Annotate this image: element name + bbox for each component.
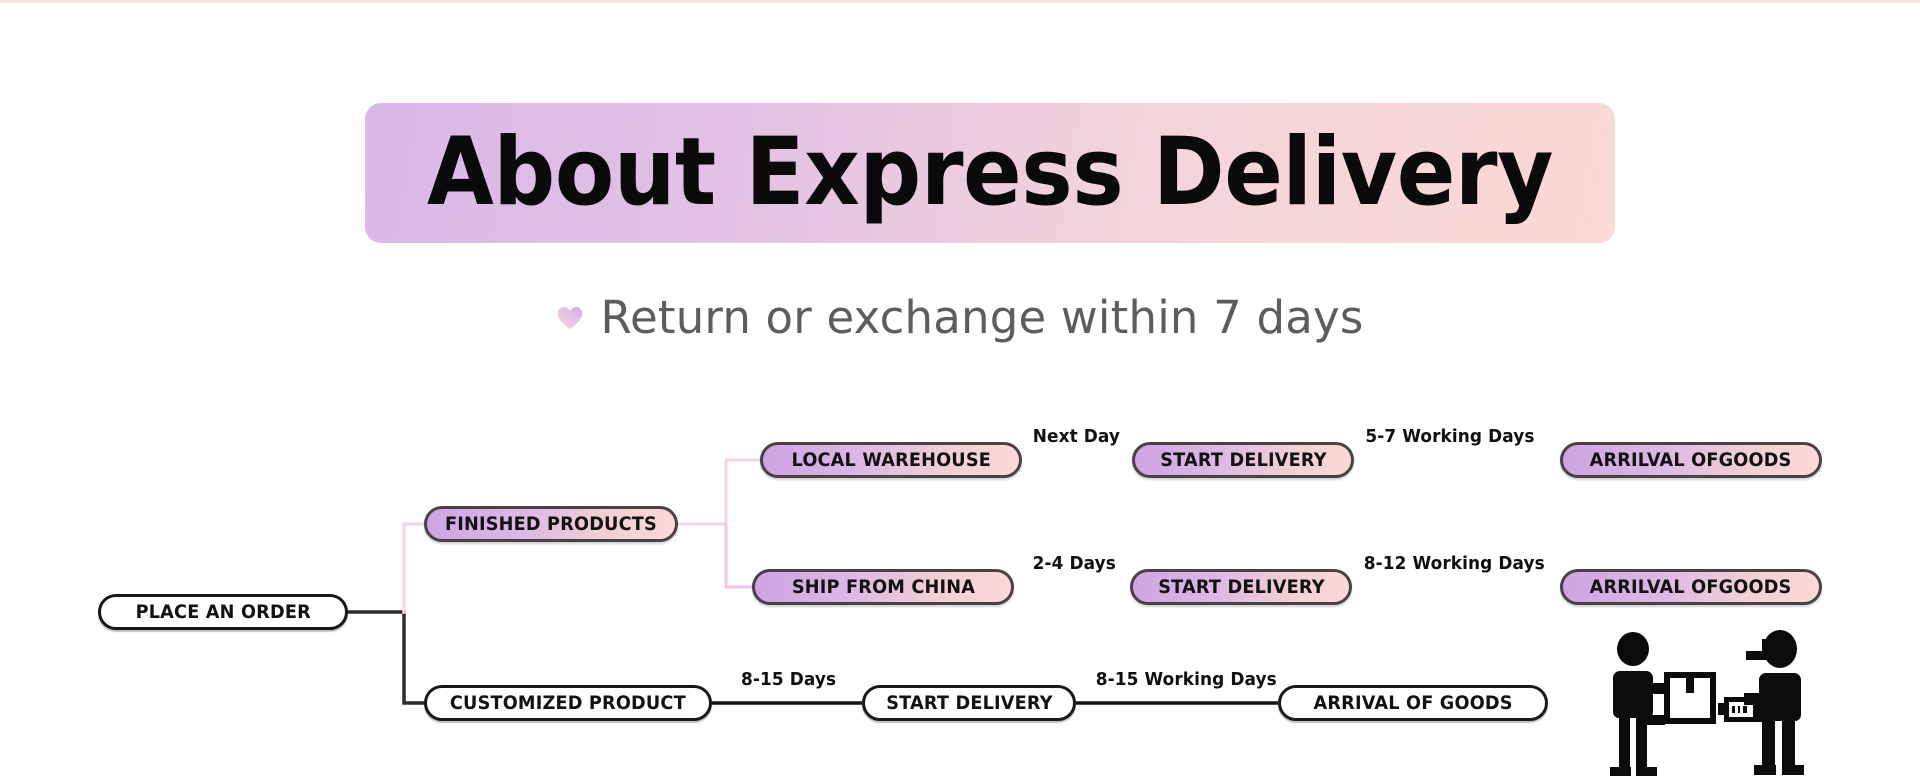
node-local-warehouse[interactable]: LOCAL WAREHOUSE	[760, 442, 1022, 478]
edge-label-5-7-working-days: 5-7 Working Days	[1365, 426, 1534, 447]
node-arrival-of-goods-row3[interactable]: ARRIVAL OF GOODS	[1278, 685, 1548, 721]
node-label: START DELIVERY	[886, 692, 1052, 714]
edge-label-next-day: Next Day	[1033, 426, 1120, 447]
node-label: START DELIVERY	[1160, 449, 1326, 471]
node-start-delivery-row2[interactable]: START DELIVERY	[1130, 569, 1352, 605]
node-start-delivery-row3[interactable]: START DELIVERY	[862, 685, 1076, 721]
node-arrival-of-goods-row1[interactable]: ARRILVAL OFGOODS	[1560, 442, 1822, 478]
edge-label-2-4-days: 2-4 Days	[1033, 553, 1116, 574]
node-customized-product[interactable]: CUSTOMIZED PRODUCT	[424, 685, 712, 721]
node-ship-from-china[interactable]: SHIP FROM CHINA	[752, 569, 1014, 605]
node-place-an-order[interactable]: PLACE AN ORDER	[98, 594, 348, 630]
page-root: About Express Delivery Return or exchang…	[0, 0, 1920, 781]
edge-label-8-15-working-days: 8-15 Working Days	[1096, 669, 1277, 690]
node-label: FINISHED PRODUCTS	[445, 513, 657, 535]
node-label: CUSTOMIZED PRODUCT	[450, 692, 686, 714]
delivery-handover-illustration	[1596, 627, 1816, 779]
node-finished-products[interactable]: FINISHED PRODUCTS	[424, 506, 678, 542]
node-label: ARRILVAL OFGOODS	[1590, 449, 1792, 471]
node-label: START DELIVERY	[1158, 576, 1324, 598]
node-label: ARRIVAL OF GOODS	[1313, 692, 1512, 714]
edge-label-8-15-days: 8-15 Days	[741, 669, 836, 690]
node-label: ARRILVAL OFGOODS	[1590, 576, 1792, 598]
node-label: PLACE AN ORDER	[135, 601, 310, 623]
node-label: SHIP FROM CHINA	[791, 576, 974, 598]
node-label: LOCAL WAREHOUSE	[791, 449, 990, 471]
node-start-delivery-row1[interactable]: START DELIVERY	[1132, 442, 1354, 478]
node-arrival-of-goods-row2[interactable]: ARRILVAL OFGOODS	[1560, 569, 1822, 605]
edge-label-8-12-working-days: 8-12 Working Days	[1364, 553, 1545, 574]
delivery-flowchart: PLACE AN ORDER FINISHED PRODUCTS LOCAL W…	[0, 3, 1920, 784]
